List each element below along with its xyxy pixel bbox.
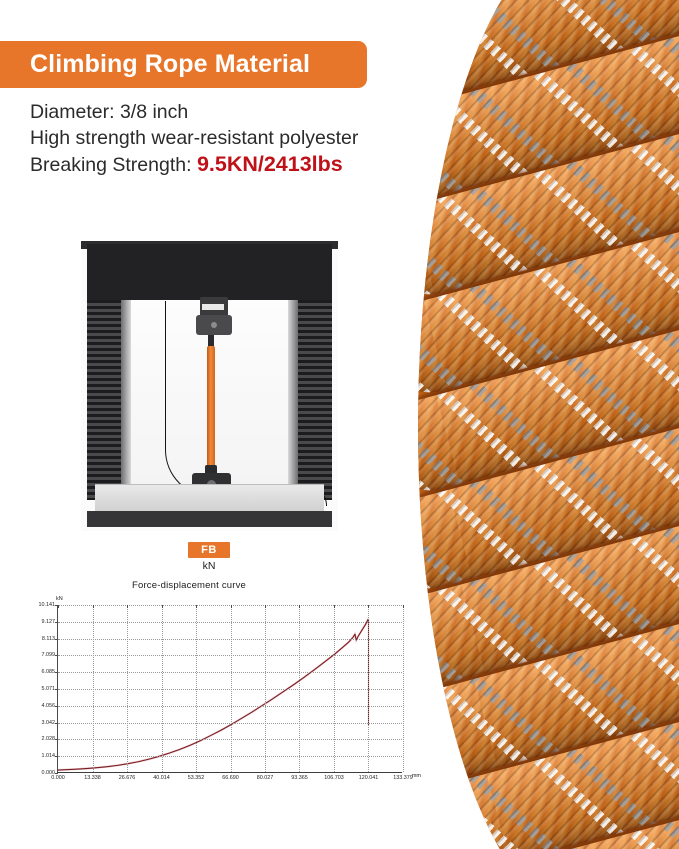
chart-gridline-vertical (196, 605, 197, 772)
chart-y-tick-mark (55, 773, 58, 774)
force-badge-group: FB kN (0, 540, 418, 572)
rope-specimen (207, 346, 215, 469)
chart-y-tick-label: 9.127 (42, 619, 56, 625)
chart-x-tick-label: 13.338 (84, 775, 101, 781)
machine-base-plate (95, 484, 324, 513)
chart-y-tick-mark (55, 672, 58, 673)
chart-x-tick-mark (368, 605, 369, 608)
chart-y-tick-mark (55, 723, 58, 724)
chart-gridline-vertical (127, 605, 128, 772)
chart-y-tick-label: 6.085 (42, 669, 56, 675)
chart-y-tick-label: 7.099 (42, 652, 56, 658)
machine-grip-label (202, 304, 224, 310)
chart-series-line (58, 619, 368, 770)
chart-plot-area: 0.0001.0142.0283.0424.0565.0716.0857.099… (57, 605, 402, 773)
product-infographic: Climbing Rope Material Diameter: 3/8 inc… (0, 0, 679, 849)
chart-x-tick-label: 106.703 (324, 775, 344, 781)
spec-list: Diameter: 3/8 inch High strength wear-re… (30, 99, 420, 178)
section-banner: Climbing Rope Material (0, 41, 367, 88)
machine-right-bevel (288, 300, 298, 500)
page-title: Climbing Rope Material (0, 50, 310, 79)
chart-gridline-vertical (299, 605, 300, 772)
testing-machine-photo (81, 241, 338, 531)
chart-x-tick-label: 53.352 (188, 775, 205, 781)
chart-y-tick-label: 2.028 (42, 736, 56, 742)
rope-strands (418, 0, 679, 849)
chart-y-tick-mark (55, 739, 58, 740)
chart-y-tick-mark (55, 622, 58, 623)
force-displacement-chart: Force-displacement curve kN mm 0.0001.01… (24, 580, 419, 805)
fb-badge: FB (188, 542, 230, 558)
chart-y-tick-mark (55, 689, 58, 690)
chart-x-tick-mark (127, 605, 128, 608)
chart-x-tick-mark (299, 605, 300, 608)
rope-closeup-photo (418, 0, 679, 849)
chart-y-tick-label: 5.071 (42, 686, 56, 692)
spec-breaking-strength: Breaking Strength: 9.5KN/2413lbs (30, 151, 420, 178)
chart-x-tick-mark (93, 605, 94, 608)
chart-x-tick-label: 93.365 (291, 775, 308, 781)
machine-crosshead (87, 244, 332, 300)
chart-x-tick-mark (58, 605, 59, 608)
spec-material: High strength wear-resistant polyester (30, 125, 420, 151)
chart-gridline-vertical (231, 605, 232, 772)
chart-x-tick-mark (231, 605, 232, 608)
spec-breaking-strength-value: 9.5KN/2413lbs (197, 152, 343, 176)
spec-diameter: Diameter: 3/8 inch (30, 99, 420, 125)
chart-gridline-vertical (368, 605, 369, 772)
spec-breaking-strength-label: Breaking Strength: (30, 154, 197, 176)
chart-y-tick-mark (55, 706, 58, 707)
chart-x-tick-label: 133.379 (393, 775, 413, 781)
chart-y-tick-label: 4.056 (42, 703, 56, 709)
chart-gridline-vertical (93, 605, 94, 772)
machine-left-column (87, 300, 121, 500)
chart-x-tick-label: 66.690 (222, 775, 239, 781)
machine-base-shadow (87, 511, 332, 527)
chart-x-tick-label: 26.676 (119, 775, 136, 781)
chart-x-tick-mark (265, 605, 266, 608)
fb-unit-label: kN (0, 560, 418, 572)
chart-x-tick-mark (403, 605, 404, 608)
chart-y-tick-mark (55, 655, 58, 656)
chart-y-tick-label: 8.113 (42, 636, 55, 642)
chart-x-tick-mark (162, 605, 163, 608)
chart-x-axis-unit: mm (412, 773, 421, 779)
chart-gridline-vertical (162, 605, 163, 772)
chart-gridline-vertical (265, 605, 266, 772)
machine-right-column (298, 300, 332, 500)
chart-y-tick-label: 1.014 (42, 753, 56, 759)
chart-x-tick-label: 0.000 (51, 775, 65, 781)
chart-y-tick-mark (55, 639, 58, 640)
chart-title: Force-displacement curve (24, 580, 354, 591)
chart-x-tick-label: 80.027 (257, 775, 274, 781)
chart-y-tick-mark (55, 756, 58, 757)
chart-x-tick-mark (196, 605, 197, 608)
chart-x-tick-label: 40.014 (153, 775, 170, 781)
chart-x-tick-label: 120.041 (359, 775, 379, 781)
machine-clamp-bolt (211, 322, 217, 328)
chart-x-tick-mark (334, 605, 335, 608)
chart-y-axis-unit: kN (56, 596, 63, 602)
chart-y-tick-label: 3.042 (42, 720, 56, 726)
chart-gridline-vertical (403, 605, 404, 772)
chart-series-halo (58, 619, 368, 770)
chart-gridline-vertical (334, 605, 335, 772)
chart-y-tick-label: 10.141 (39, 602, 56, 608)
machine-left-bevel (121, 300, 131, 500)
